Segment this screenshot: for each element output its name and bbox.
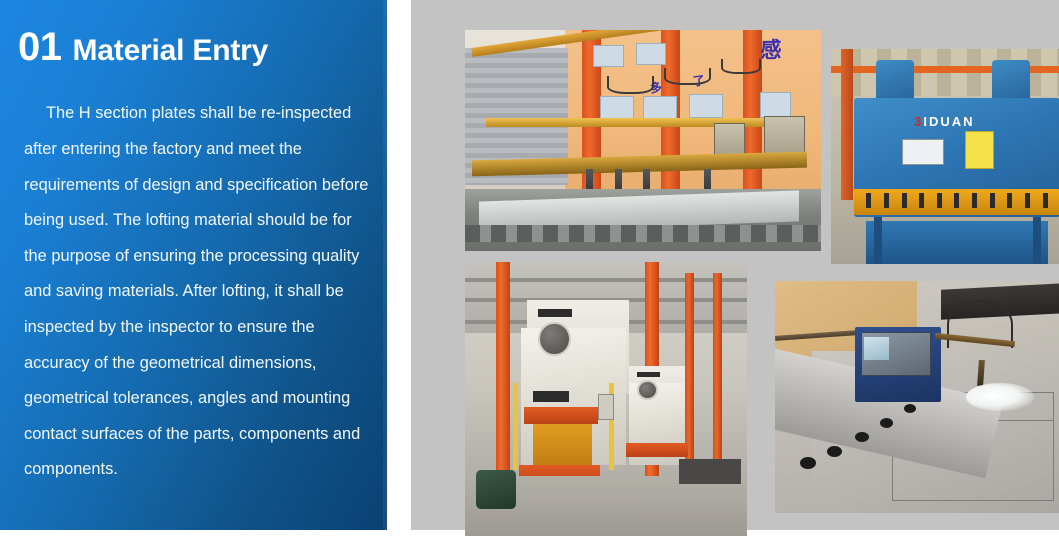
- window: [643, 96, 677, 120]
- photo-4-scene: [775, 281, 1059, 513]
- cable-loop: [721, 59, 761, 74]
- slide-guide: [533, 391, 570, 402]
- press-bolster: [533, 418, 592, 467]
- cable-loop: [664, 68, 711, 85]
- rail-hole: [827, 446, 842, 457]
- clamp-slot: [1043, 193, 1048, 208]
- window: [689, 94, 723, 118]
- photo-cnc-gantry-cutter[interactable]: 多 了 感 CNC gantry flame cutting m: [465, 30, 821, 251]
- clamp-slot: [1007, 193, 1012, 208]
- machine-brand-label: 3IDUAN: [914, 114, 974, 129]
- step-number: 01: [18, 27, 62, 67]
- clamp-slot: [902, 193, 907, 208]
- cutting-flame-glow: [966, 383, 1034, 411]
- window: [593, 45, 623, 67]
- photo-gallery: 多 了 感 CNC gantry flame cutting m: [411, 0, 1059, 530]
- machine-leg: [874, 217, 882, 264]
- rail-hole: [855, 432, 869, 442]
- cutting-table-rail: [465, 225, 821, 243]
- orange-pillar: [841, 49, 853, 200]
- machine-base: [866, 221, 1047, 264]
- cable-loop: [607, 76, 654, 93]
- second-press-brand: [637, 372, 660, 377]
- description-text: The H section plates shall be re-inspect…: [24, 96, 369, 488]
- electric-motor: [476, 470, 515, 508]
- photo-portable-cnc-cutter[interactable]: Portable CNC flame cutting machine on ra…: [775, 281, 1059, 513]
- page-title: Material Entry: [73, 36, 269, 66]
- photo-2-scene: 3IDUAN: [831, 49, 1059, 264]
- banner-character-3: 感: [760, 34, 781, 64]
- red-column: [496, 262, 510, 498]
- warning-sticker: [965, 131, 995, 170]
- orange-column: [743, 30, 762, 202]
- second-press-bed: [626, 443, 688, 457]
- flywheel-cover: [538, 322, 570, 356]
- clamp-slot: [884, 193, 889, 208]
- gantry-rail: [486, 118, 799, 127]
- clamp-slot: [919, 193, 924, 208]
- panel-header: 01 Material Entry: [18, 16, 268, 86]
- press-bed-red: [524, 407, 597, 423]
- operator-panel: [598, 394, 614, 421]
- info-panel: 01 Material Entry The H section plates s…: [0, 0, 387, 530]
- brand-text: IDUAN: [923, 114, 974, 129]
- control-label-plate: [902, 139, 944, 165]
- cnc-display-screen: [864, 337, 889, 360]
- photo-3-scene: [465, 262, 747, 536]
- clamp-slot: [937, 193, 942, 208]
- red-column: [685, 273, 694, 465]
- clamp-slot: [866, 193, 871, 208]
- red-column: [713, 273, 722, 465]
- clamp-slot: [1025, 193, 1030, 208]
- second-flywheel-cover: [637, 380, 658, 400]
- clamp-slot: [990, 193, 995, 208]
- clamp-slot: [972, 193, 977, 208]
- photo-punch-press[interactable]: Two C-frame punch presses in a steel str…: [465, 262, 747, 536]
- safety-light-curtain: [513, 383, 518, 471]
- machine-leg: [1033, 217, 1041, 264]
- stacked-parts: [679, 459, 741, 484]
- rail-hole: [880, 418, 893, 428]
- window: [600, 96, 634, 120]
- rail-hole: [800, 457, 816, 469]
- brand-plate: [538, 309, 572, 317]
- photo-shearing-machine[interactable]: 3IDUAN Blue hydraulic guillotin: [831, 49, 1059, 264]
- window: [636, 43, 666, 65]
- photo-1-scene: 多 了 感: [465, 30, 821, 251]
- clamp-slot: [954, 193, 959, 208]
- slide-root: 01 Material Entry The H section plates s…: [0, 0, 1059, 530]
- window: [760, 92, 790, 118]
